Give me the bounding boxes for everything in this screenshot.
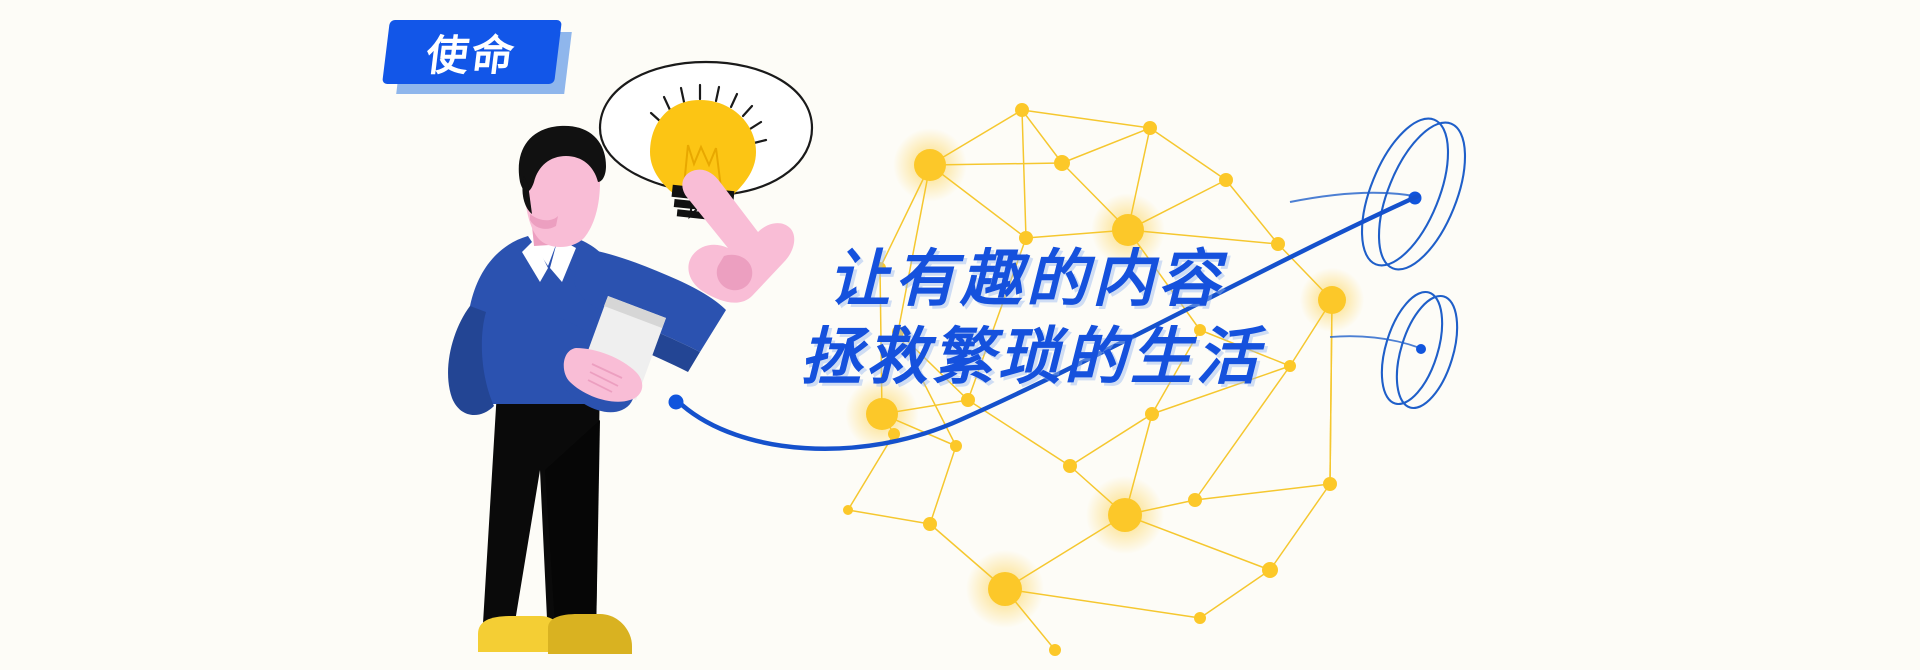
person-head [519,126,606,247]
person-illustration [0,0,1920,670]
mission-banner: 使命 让有趣的内容 拯救繁琐的生活 [0,0,1920,670]
person-shoes [478,614,632,654]
person-pants [482,374,600,640]
